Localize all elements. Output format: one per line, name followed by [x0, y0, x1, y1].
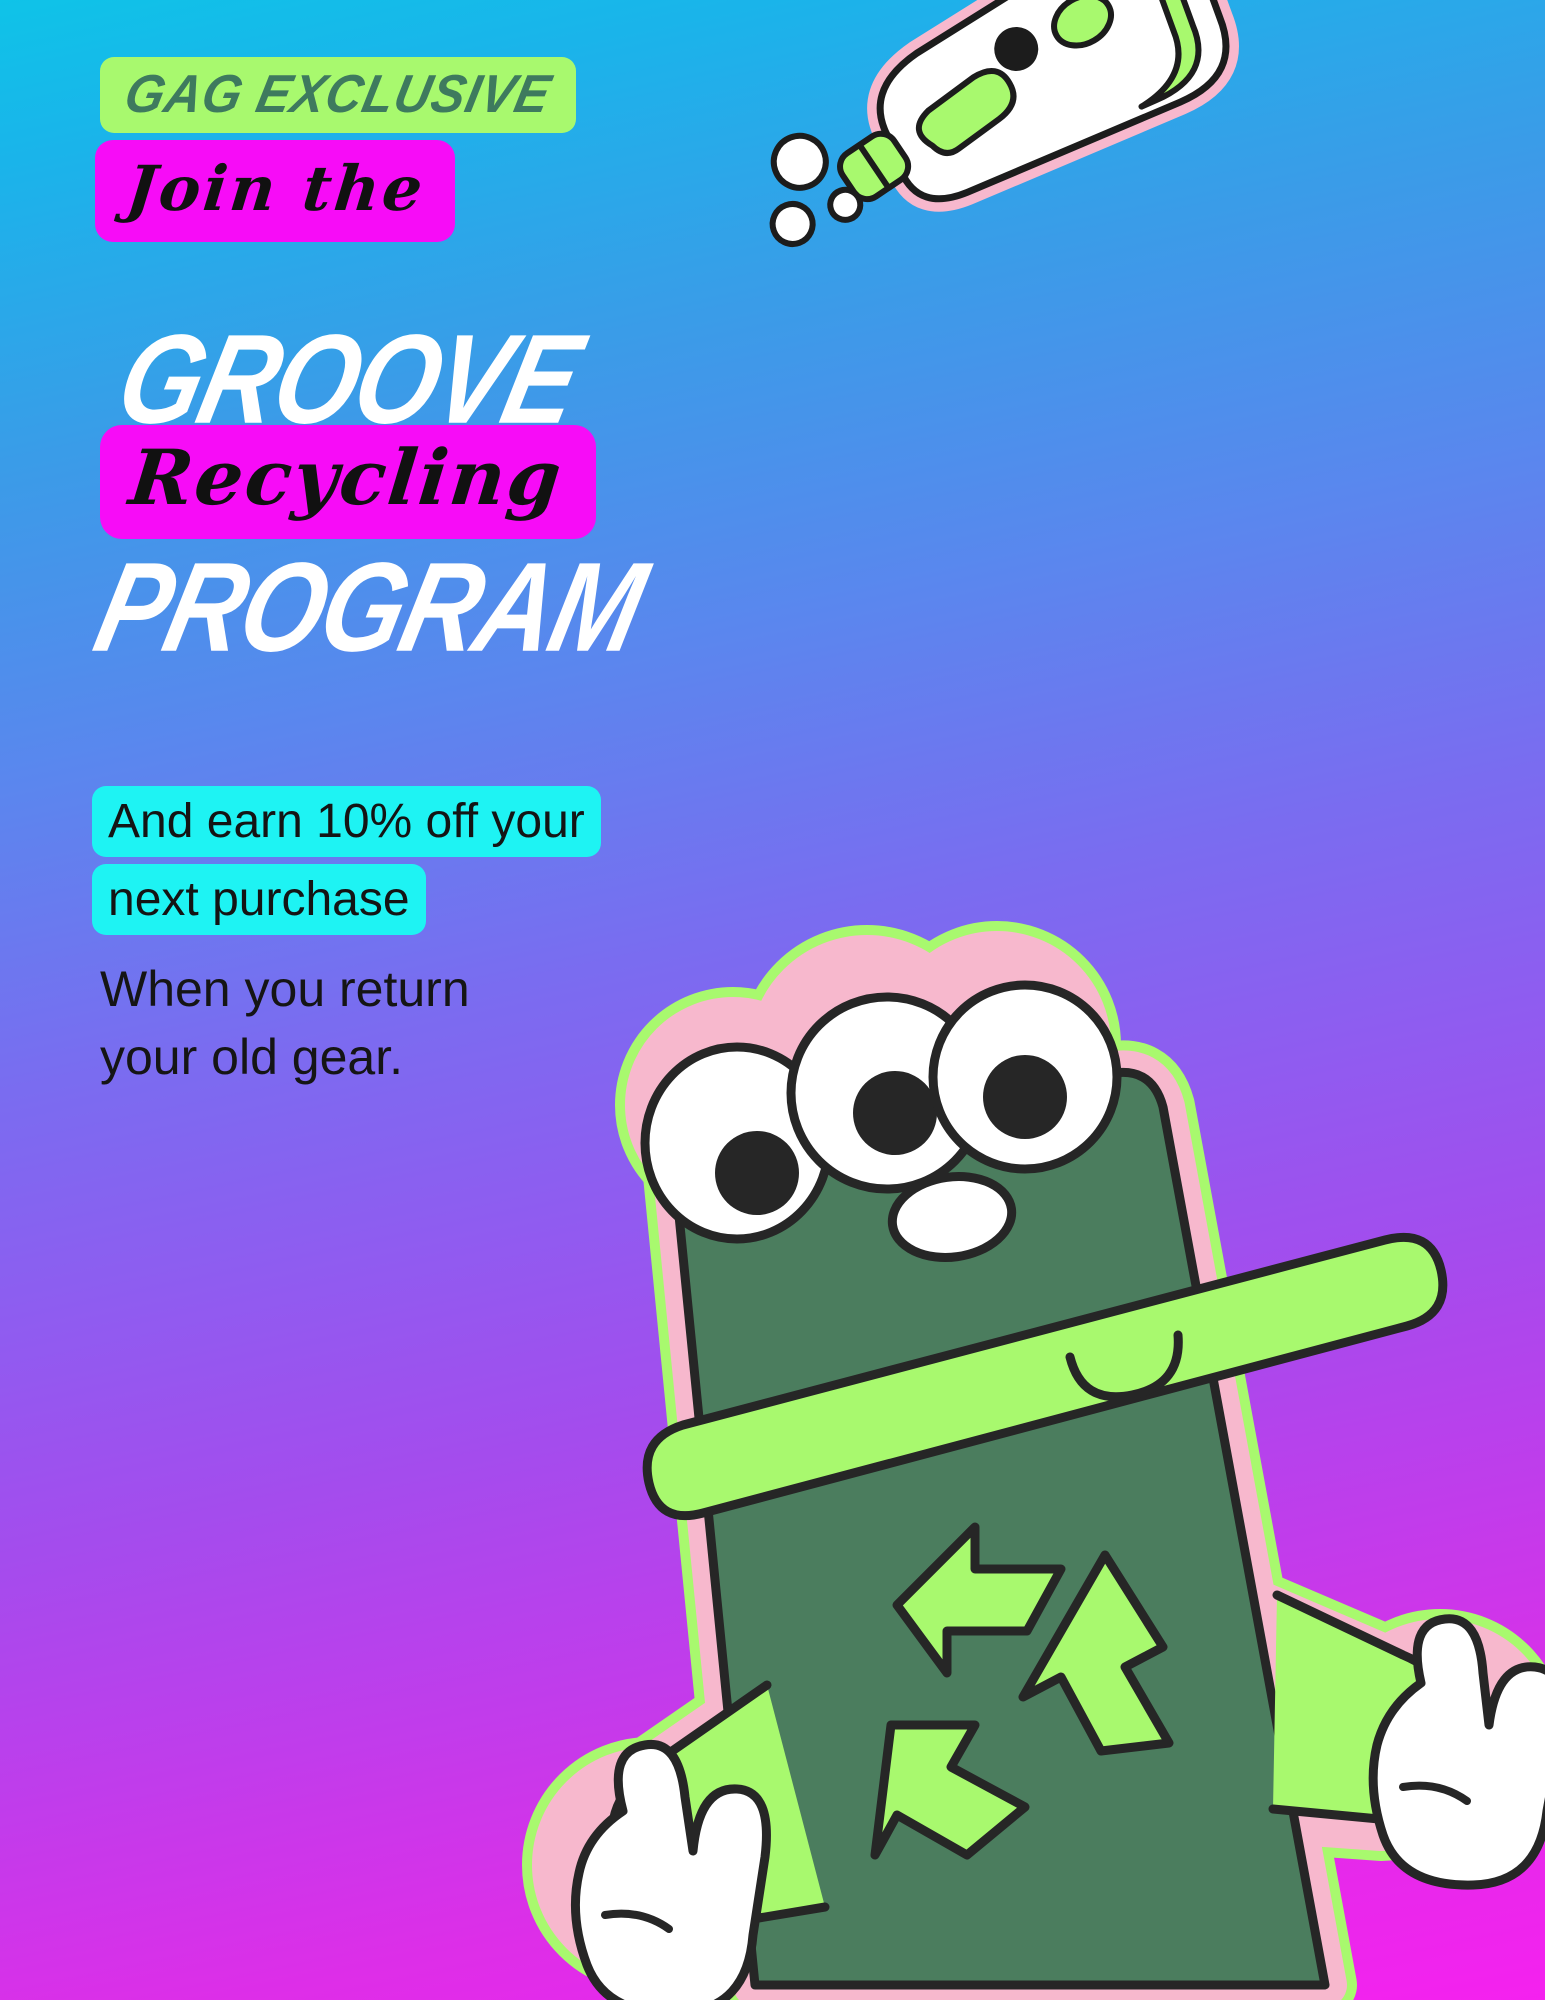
- join-the-label: Join the: [124, 156, 429, 222]
- offer-line-2: next purchase: [92, 864, 426, 935]
- gag-exclusive-label: GAG EXCLUSIVE: [120, 66, 556, 122]
- spray-bottle-sticker: [745, 0, 1265, 300]
- spray-bottle-icon: [745, 0, 1265, 300]
- recycling-bin-icon: [505, 905, 1545, 2000]
- join-the-badge: Join the: [95, 140, 455, 242]
- headline-recycling-label: Recycling: [126, 439, 567, 517]
- headline-recycling-badge: Recycling: [100, 425, 596, 539]
- recycling-bin-character: [505, 905, 1545, 2000]
- gag-exclusive-badge: GAG EXCLUSIVE: [100, 57, 576, 133]
- poster-canvas: GAG EXCLUSIVE Join the GROOVE Recycling …: [0, 0, 1545, 2000]
- offer-line-1: And earn 10% off your: [92, 786, 601, 857]
- headline-program: PROGRAM: [85, 545, 654, 672]
